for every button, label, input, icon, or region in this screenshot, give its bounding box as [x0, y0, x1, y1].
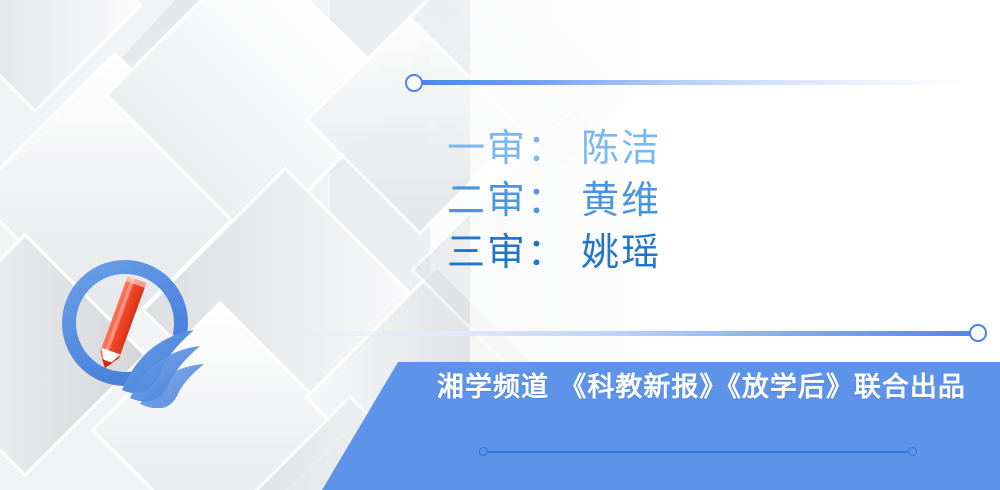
decor-circle-middle	[969, 324, 987, 342]
decor-circle-top	[405, 74, 423, 92]
credits-block: 一审： 陈洁 二审： 黄维 三审： 姚瑶	[447, 122, 867, 278]
credit-line-first-review: 一审： 陈洁	[447, 122, 867, 174]
logo-pages-icon	[122, 330, 204, 408]
band-rule-dot-right	[908, 447, 917, 456]
producer-credit-text: 湘学频道 《科教新报》《放学后》联合出品	[437, 371, 966, 405]
end-credits-slide: 一审： 陈洁 二审： 黄维 三审： 姚瑶 湘学频道 《科教新报》《放学后》联合出…	[0, 0, 1000, 490]
credit-line-second-review: 二审： 黄维	[447, 174, 867, 226]
xiangxue-logo	[48, 248, 208, 408]
logo-pencil-icon	[95, 276, 146, 371]
band-rule-dot-left	[479, 447, 488, 456]
band-rule	[484, 451, 912, 453]
decor-line-top	[420, 80, 965, 85]
decor-line-middle	[268, 331, 980, 336]
credit-line-third-review: 三审： 姚瑶	[447, 226, 867, 278]
